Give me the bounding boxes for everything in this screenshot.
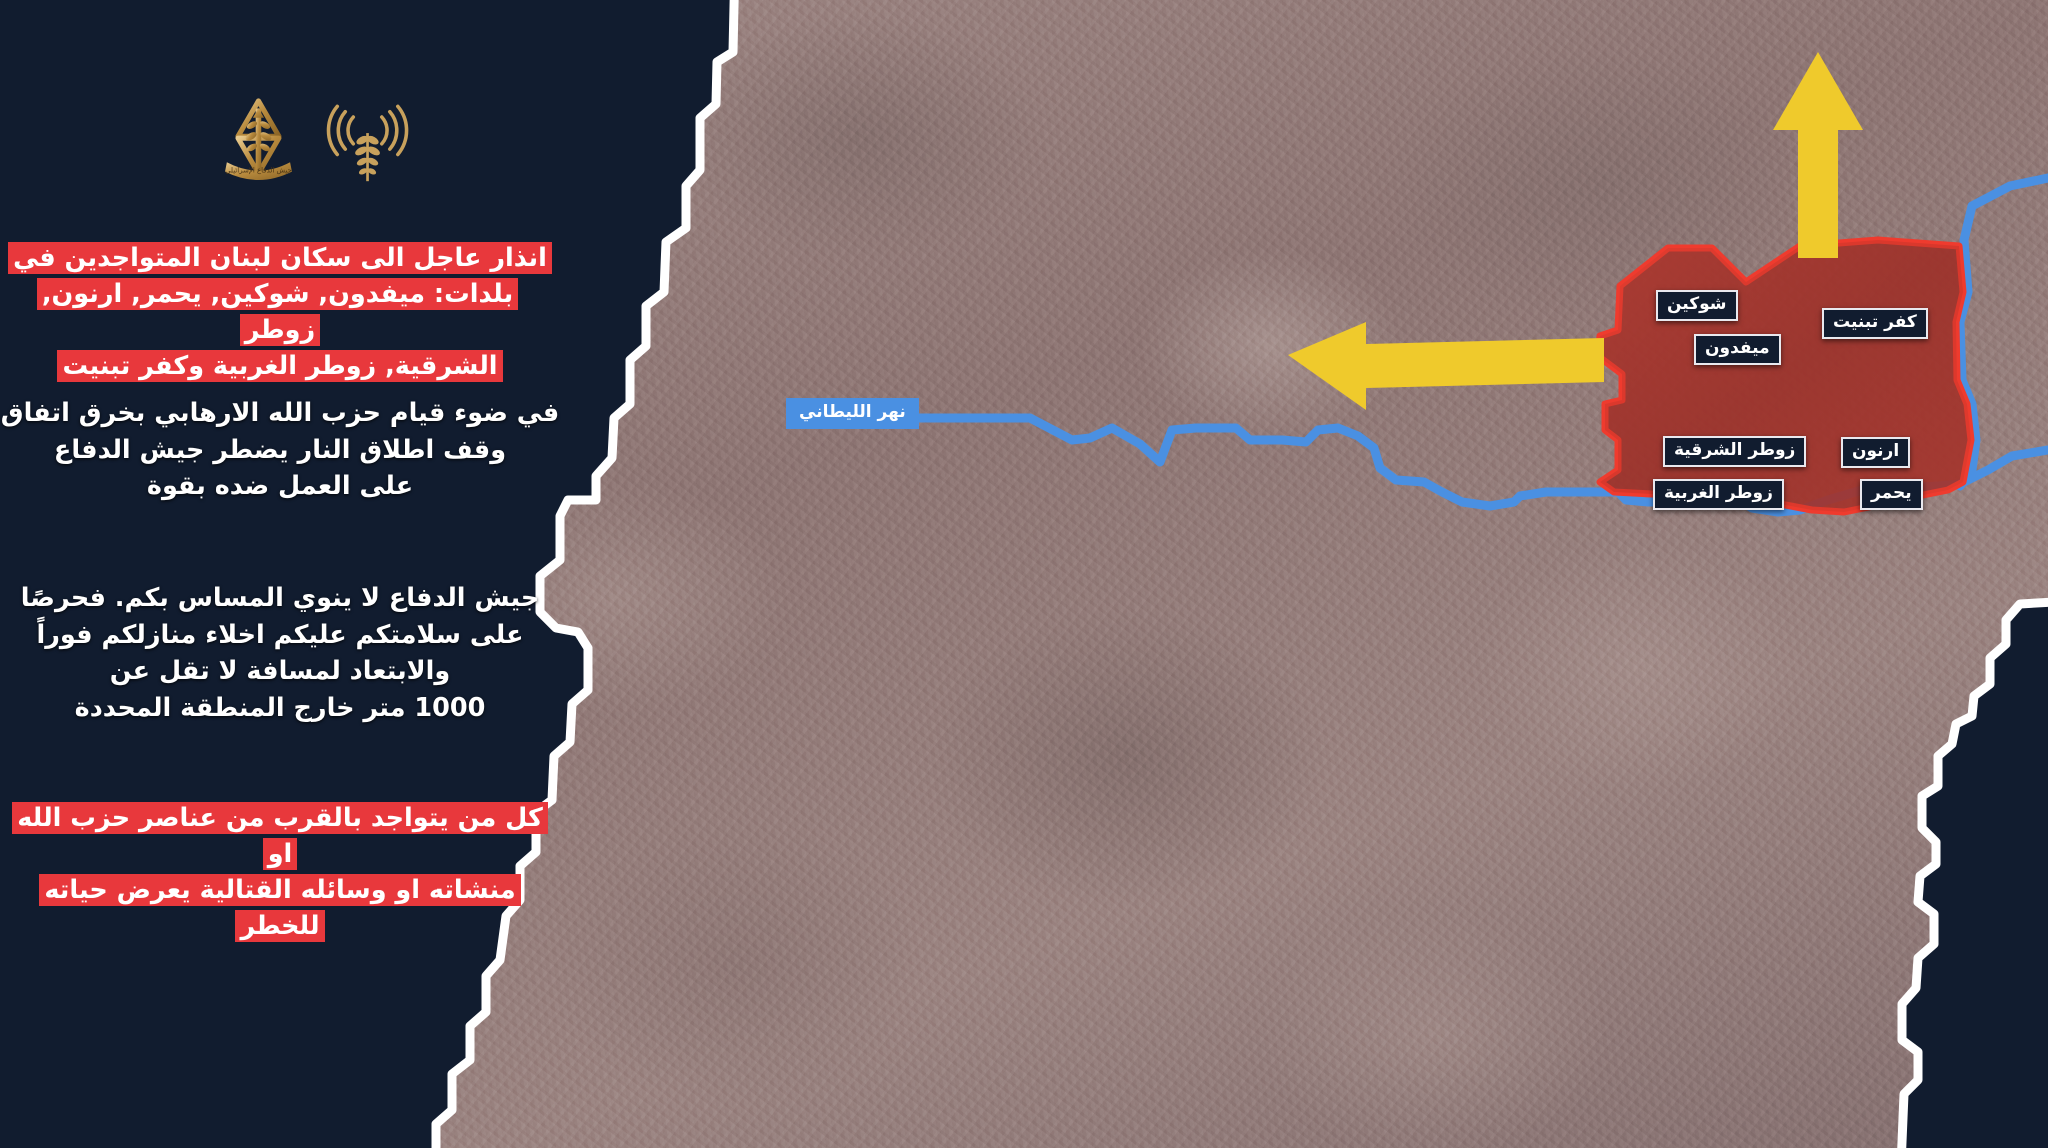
town-label-arnoun: ارنون: [1841, 437, 1910, 468]
final-warning-block: كل من يتواجد بالقرب من عناصر حزب الله او…: [0, 800, 560, 944]
final-warning-line-1: كل من يتواجد بالقرب من عناصر حزب الله او: [12, 802, 548, 870]
arrow-west-icon: [1288, 322, 1604, 410]
town-label-meifdoun: ميفدون: [1694, 334, 1781, 365]
headline-line-3: الشرقية, زوطر الغربية وكفر تبنيت: [57, 350, 502, 382]
river-label-litani: نهر الليطاني: [786, 398, 919, 429]
town-label-kfar-tibnit: كفر تبنيت: [1822, 308, 1928, 339]
mediterranean-sea-area: [0, 0, 735, 1148]
town-label-zawtar-al-sharqiya: زوطر الشرقية: [1663, 436, 1806, 467]
final-warning-line-2: منشاته او وسائله القتالية يعرض حياته للخ…: [39, 874, 520, 942]
evacuation-zone-shading: [1598, 240, 1971, 512]
border-masked-area: [1900, 600, 2048, 1148]
headline-line-1: انذار عاجل الى سكان لبنان المتواجدين في: [8, 242, 552, 274]
headline-block: انذار عاجل الى سكان لبنان المتواجدين في …: [0, 240, 560, 384]
town-label-yohmor: يحمر: [1860, 479, 1923, 510]
town-label-zawtar-al-gharbiya: زوطر الغربية: [1653, 479, 1784, 510]
map-layer: نهر الليطاني شوكين كفر تبنيت ميفدون زوطر…: [0, 0, 2048, 1148]
evacuation-warning-graphic: نهر الليطاني شوكين كفر تبنيت ميفدون زوطر…: [0, 0, 2048, 1148]
arrow-north-icon: [1773, 52, 1863, 258]
map-vector-overlay: [0, 0, 2048, 1148]
headline-line-2: بلدات: ميفدون, شوكين, يحمر, ارنون, زوطر: [37, 278, 518, 346]
town-label-shukin: شوكين: [1656, 290, 1738, 321]
